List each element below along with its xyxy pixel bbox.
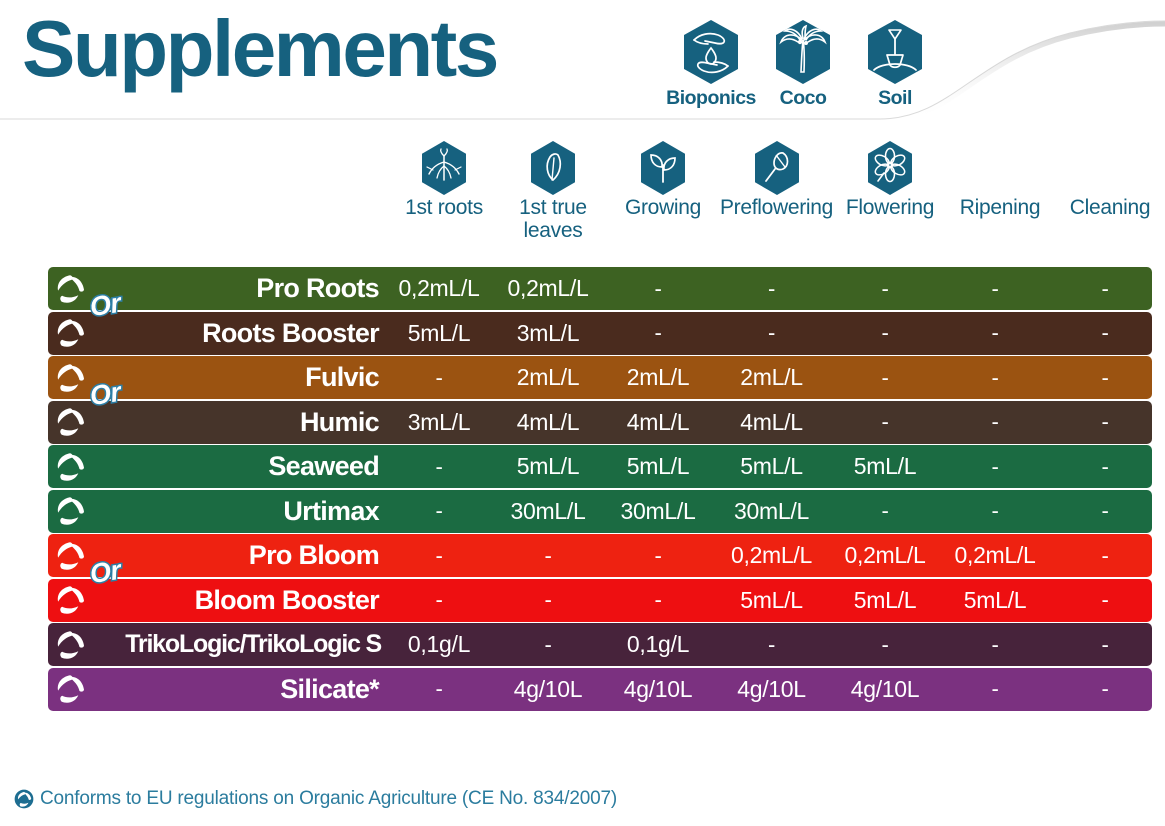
column-header-flowering: Flowering [835, 140, 945, 258]
row-dosage-cells: ---5mL/L5mL/L5mL/L- [385, 579, 1160, 622]
product-name: Silicate* [86, 674, 385, 705]
dosage-cell: - [603, 534, 713, 577]
dosage-cell: - [385, 445, 493, 488]
dosage-cell: - [603, 267, 713, 310]
row-dosage-cells: 0,1g/L-0,1g/L---- [385, 623, 1160, 666]
dosage-cell: 5mL/L [603, 445, 713, 488]
product-name: Humic [86, 407, 385, 438]
footer-note: Conforms to EU regulations on Organic Ag… [14, 788, 617, 810]
growing-media-legend: Bioponics Coco [668, 18, 938, 110]
dosage-cell: 30mL/L [713, 490, 830, 533]
flower-icon [865, 140, 915, 196]
medium-soil[interactable]: Soil [852, 18, 938, 110]
table-row[interactable]: Silicate*-4g/10L4g/10L4g/10L4g/10L-- [48, 668, 1152, 711]
product-name: Fulvic [86, 362, 385, 393]
or-connector-badge: Or [88, 378, 122, 409]
dosage-cell: - [940, 356, 1050, 399]
dosage-cell: - [713, 312, 830, 355]
dosage-cell: 5mL/L [493, 445, 603, 488]
column-header-label: Growing [625, 197, 701, 220]
table-row[interactable]: Urtimax-30mL/L30mL/L30mL/L--- [48, 490, 1152, 533]
column-header-1st-roots: 1st roots [390, 140, 498, 258]
column-header-1st-true-leaves: 1st true leaves [498, 140, 608, 258]
product-name: Bloom Booster [86, 585, 385, 616]
dosage-cell: 30mL/L [603, 490, 713, 533]
organic-leaf-icon [54, 540, 86, 572]
dosage-cell: - [1050, 579, 1160, 622]
dosage-cell: 0,2mL/L [385, 267, 493, 310]
dosage-cell: - [940, 312, 1050, 355]
dosage-cell: - [830, 490, 940, 533]
dosage-cell: - [493, 623, 603, 666]
dosage-cell: - [1050, 623, 1160, 666]
organic-leaf-icon [54, 584, 86, 616]
dosage-cell: 2mL/L [603, 356, 713, 399]
table-row[interactable]: Pro Roots0,2mL/L0,2mL/L----- [48, 267, 1152, 310]
organic-leaf-icon [54, 495, 86, 527]
row-dosage-cells: -4g/10L4g/10L4g/10L4g/10L-- [385, 668, 1160, 711]
table-row[interactable]: Pro Bloom---0,2mL/L0,2mL/L0,2mL/L- [48, 534, 1152, 577]
organic-leaf-icon [54, 629, 86, 661]
supplements-table: Pro Roots0,2mL/L0,2mL/L----- Roots Boost… [48, 267, 1152, 712]
column-header-cleaning: Cleaning [1055, 140, 1165, 258]
column-header-label: Ripening [960, 197, 1041, 220]
dosage-cell: - [830, 623, 940, 666]
dosage-cell: - [940, 445, 1050, 488]
organic-leaf-icon [54, 406, 86, 438]
dosage-cell: 3mL/L [493, 312, 603, 355]
dosage-cell: - [1050, 267, 1160, 310]
row-dosage-cells: -2mL/L2mL/L2mL/L--- [385, 356, 1160, 399]
leaf-icon [528, 140, 578, 196]
row-product-cell: Seaweed [48, 445, 385, 488]
column-header-label: Preflowering [720, 197, 833, 220]
row-dosage-cells: 0,2mL/L0,2mL/L----- [385, 267, 1160, 310]
medium-label: Coco [780, 87, 827, 110]
dosage-cell: 5mL/L [830, 579, 940, 622]
dosage-cell: 0,2mL/L [493, 267, 603, 310]
or-connector-badge: Or [88, 289, 122, 320]
dosage-cell: - [940, 490, 1050, 533]
product-name: Pro Bloom [86, 540, 385, 571]
organic-leaf-icon [54, 317, 86, 349]
product-name: Roots Booster [86, 318, 385, 349]
dosage-cell: - [385, 534, 493, 577]
dosage-cell: - [940, 267, 1050, 310]
footer-text: Conforms to EU regulations on Organic Ag… [40, 788, 617, 810]
or-connector-badge: Or [88, 556, 122, 587]
row-dosage-cells: ---0,2mL/L0,2mL/L0,2mL/L- [385, 534, 1160, 577]
sprout-icon [638, 140, 688, 196]
dosage-cell: - [1050, 356, 1160, 399]
medium-bioponics[interactable]: Bioponics [668, 18, 754, 110]
table-row[interactable]: Humic3mL/L4mL/L4mL/L4mL/L--- [48, 401, 1152, 444]
dosage-cell: - [493, 579, 603, 622]
row-dosage-cells: 5mL/L3mL/L----- [385, 312, 1160, 355]
dosage-cell: - [830, 401, 940, 444]
column-headers: 1st roots 1st true leaves [390, 140, 1165, 258]
dosage-cell: 4g/10L [493, 668, 603, 711]
palm-tree-icon [772, 18, 834, 86]
product-name: Urtimax [86, 496, 385, 527]
dosage-cell: - [713, 623, 830, 666]
dosage-cell: - [1050, 534, 1160, 577]
dosage-cell: 3mL/L [385, 401, 493, 444]
dosage-cell: - [385, 668, 493, 711]
column-header-label: 1st true leaves [519, 197, 587, 242]
row-product-cell: Silicate* [48, 668, 385, 711]
table-row[interactable]: Fulvic-2mL/L2mL/L2mL/L--- [48, 356, 1152, 399]
product-name: Pro Roots [86, 273, 385, 304]
dosage-cell: - [940, 668, 1050, 711]
dosage-cell: 0,1g/L [603, 623, 713, 666]
dosage-cell: - [940, 401, 1050, 444]
dosage-cell: 4mL/L [493, 401, 603, 444]
header-band: Supplements Bioponics [0, 0, 1165, 122]
organic-leaf-icon [54, 673, 86, 705]
dosage-cell: 0,2mL/L [713, 534, 830, 577]
dosage-cell: - [713, 267, 830, 310]
dosage-cell: 2mL/L [713, 356, 830, 399]
dosage-cell: - [1050, 401, 1160, 444]
row-product-cell: Urtimax [48, 490, 385, 533]
dosage-cell: - [940, 623, 1050, 666]
bud-icon [752, 140, 802, 196]
organic-leaf-icon [54, 362, 86, 394]
dosage-cell: - [1050, 490, 1160, 533]
row-dosage-cells: -30mL/L30mL/L30mL/L--- [385, 490, 1160, 533]
dosage-cell: 0,1g/L [385, 623, 493, 666]
dosage-cell: 4g/10L [603, 668, 713, 711]
dosage-cell: - [1050, 312, 1160, 355]
table-row[interactable]: Bloom Booster---5mL/L5mL/L5mL/L- [48, 579, 1152, 622]
dosage-cell: 2mL/L [493, 356, 603, 399]
dosage-cell: - [1050, 668, 1160, 711]
product-name: Seaweed [86, 451, 385, 482]
dosage-cell: 5mL/L [713, 579, 830, 622]
shovel-icon [864, 18, 926, 86]
dosage-cell: 4mL/L [603, 401, 713, 444]
dosage-cell: 4g/10L [713, 668, 830, 711]
column-header-preflowering: Preflowering [718, 140, 835, 258]
organic-leaf-icon [54, 273, 86, 305]
dosage-cell: - [603, 312, 713, 355]
row-dosage-cells: -5mL/L5mL/L5mL/L5mL/L-- [385, 445, 1160, 488]
medium-label: Soil [878, 87, 912, 110]
product-name: TrikoLogic/TrikoLogic S [86, 630, 385, 659]
dosage-cell: - [493, 534, 603, 577]
row-product-cell: TrikoLogic/TrikoLogic S [48, 623, 385, 666]
dosage-cell: - [603, 579, 713, 622]
table-row[interactable]: Seaweed-5mL/L5mL/L5mL/L5mL/L-- [48, 445, 1152, 488]
roots-icon [419, 140, 469, 196]
dosage-cell: - [830, 356, 940, 399]
dosage-cell: 5mL/L [713, 445, 830, 488]
dosage-cell: 0,2mL/L [830, 534, 940, 577]
dosage-cell: - [830, 312, 940, 355]
page-title: Supplements [22, 9, 497, 89]
dosage-cell: - [1050, 445, 1160, 488]
dosage-cell: 0,2mL/L [940, 534, 1050, 577]
table-row[interactable]: Roots Booster5mL/L3mL/L----- [48, 312, 1152, 355]
dosage-cell: - [830, 267, 940, 310]
medium-label: Bioponics [666, 87, 756, 110]
row-dosage-cells: 3mL/L4mL/L4mL/L4mL/L--- [385, 401, 1160, 444]
column-header-ripening: Ripening [945, 140, 1055, 258]
dosage-cell: 30mL/L [493, 490, 603, 533]
dosage-cell: 5mL/L [940, 579, 1050, 622]
organic-leaf-icon [54, 451, 86, 483]
dosage-cell: 5mL/L [830, 445, 940, 488]
dosage-cell: - [385, 490, 493, 533]
medium-coco[interactable]: Coco [760, 18, 846, 110]
column-header-label: 1st roots [405, 197, 483, 220]
organic-leaf-icon [14, 789, 34, 809]
dosage-cell: - [385, 579, 493, 622]
dosage-cell: 4mL/L [713, 401, 830, 444]
column-header-growing: Growing [608, 140, 718, 258]
dosage-cell: 4g/10L [830, 668, 940, 711]
dosage-cell: - [385, 356, 493, 399]
column-header-label: Cleaning [1070, 197, 1151, 220]
column-header-label: Flowering [846, 197, 934, 220]
dosage-cell: 5mL/L [385, 312, 493, 355]
table-row[interactable]: TrikoLogic/TrikoLogic S0,1g/L-0,1g/L---- [48, 623, 1152, 666]
hands-water-drop-icon [680, 18, 742, 86]
supplements-chart-page: Supplements Bioponics [0, 0, 1165, 826]
